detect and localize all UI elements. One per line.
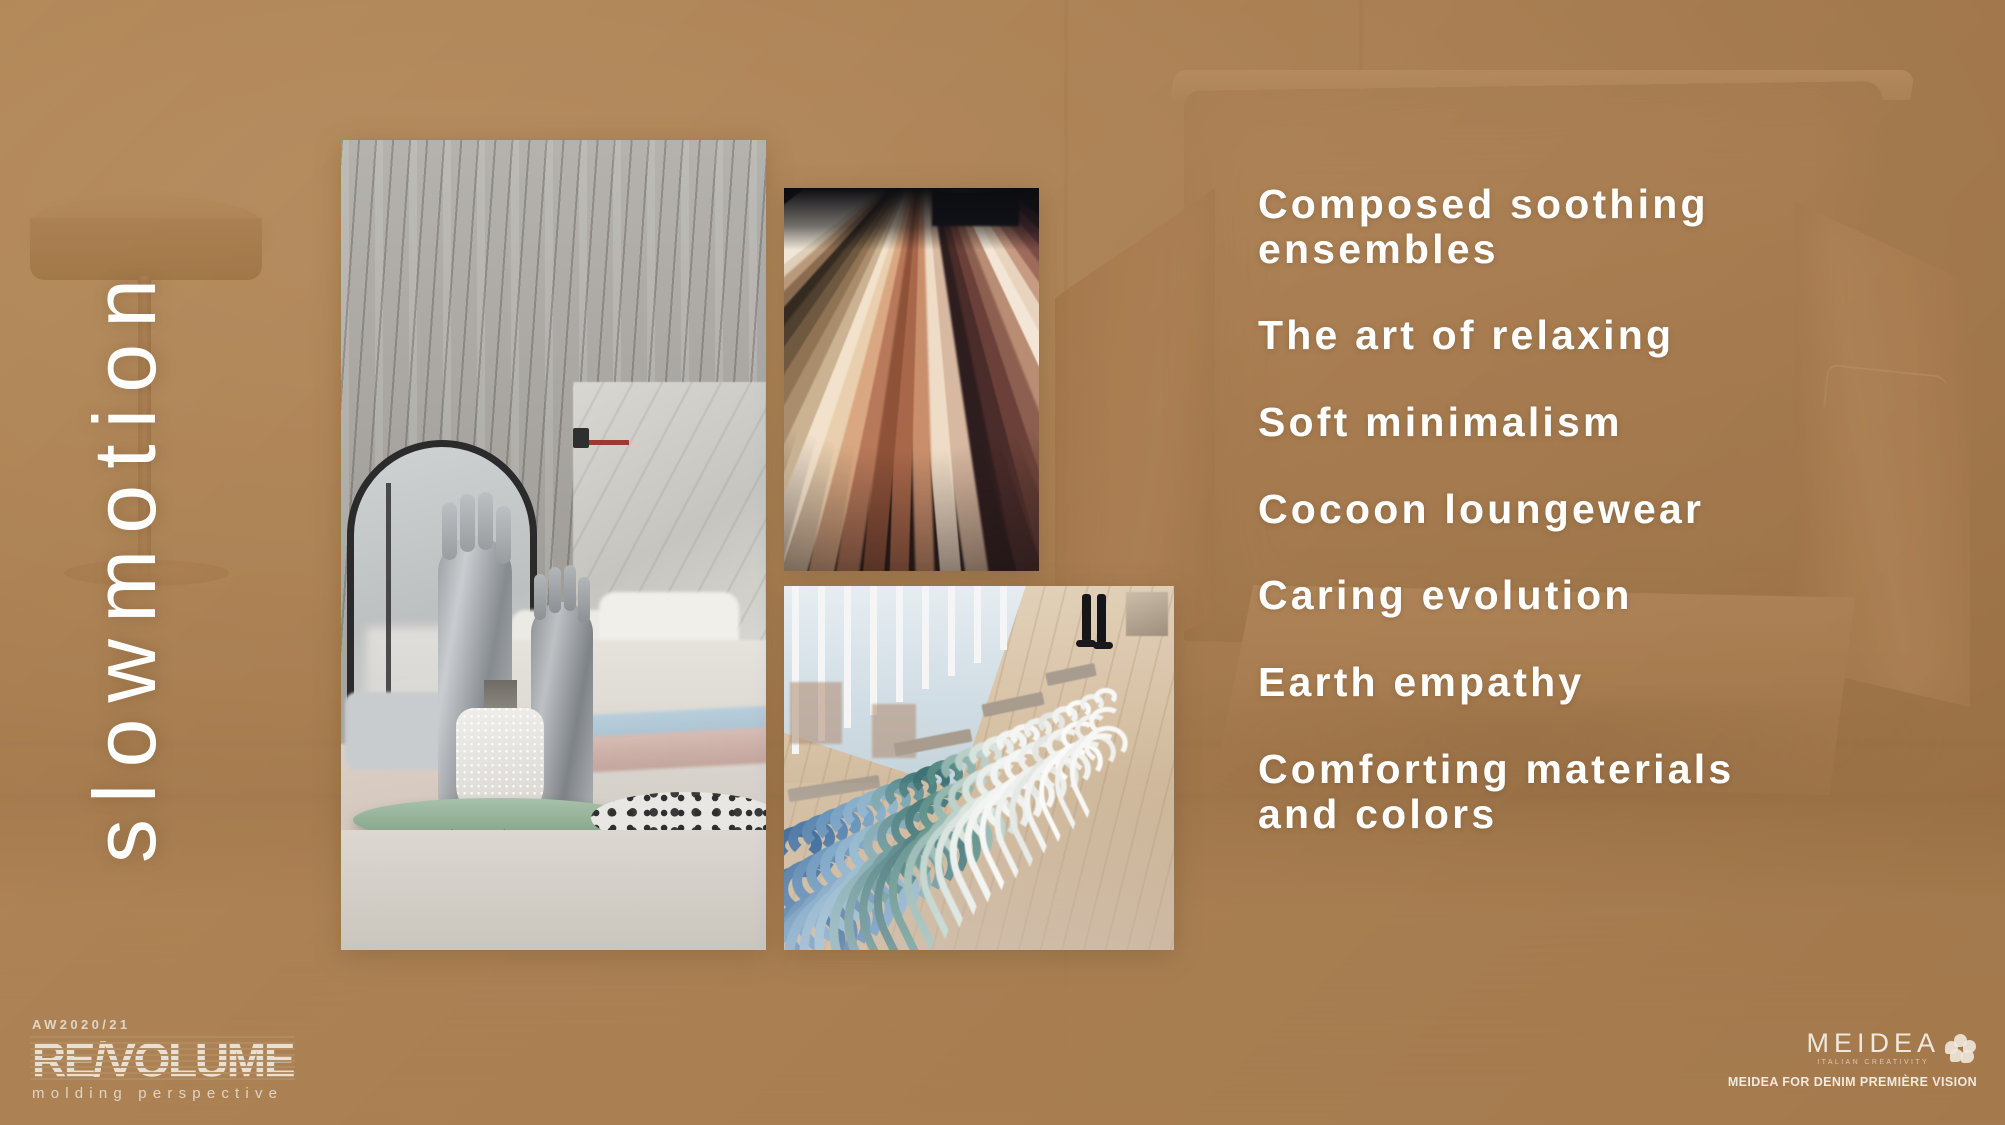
- keyword-item: Comforting materials and colors: [1258, 747, 1818, 836]
- bedroom-floor: [341, 830, 766, 950]
- meidea-wordmark-row: MEIDEA ITALIAN CREATIVITY: [1728, 1030, 1977, 1066]
- revolume-logo-block: AW2020/21 RE/VOLUME molding perspective: [32, 1017, 332, 1102]
- person-leg: [1097, 594, 1106, 644]
- person-leg: [1082, 594, 1091, 642]
- window-mullion: [922, 586, 929, 689]
- keyword-item: The art of relaxing: [1258, 313, 1958, 358]
- revolume-wordmark: RE/VOLUME: [32, 1038, 293, 1082]
- season-label: AW2020/21: [32, 1017, 332, 1032]
- window-mullion: [974, 586, 981, 663]
- photo-tube-installation: [784, 586, 1174, 950]
- window-mullion: [844, 586, 851, 728]
- vertical-title-area: slowmotion: [0, 0, 250, 1125]
- exterior-brick: [790, 682, 842, 744]
- meidea-wordmark: MEIDEA: [1806, 1030, 1940, 1057]
- keyword-item: Soft minimalism: [1258, 400, 1958, 445]
- wall-clip: [573, 428, 589, 448]
- tube-base-glow: [784, 783, 1174, 950]
- red-accent-bar: [589, 440, 629, 445]
- meidea-logo-block: MEIDEA ITALIAN CREATIVITY MEIDEA FOR DEN…: [1728, 1030, 1977, 1089]
- keyword-item: Earth empathy: [1258, 660, 1958, 705]
- person-shoe: [1093, 642, 1113, 649]
- meidea-event-line: MEIDEA FOR DENIM PREMIÈRE VISION: [1728, 1075, 1977, 1089]
- keyword-item: Cocoon loungewear: [1258, 487, 1958, 532]
- photo-concrete-bedroom: [341, 140, 766, 950]
- ceiling-shadow: [784, 188, 1039, 250]
- presentation-slide: slowmotion: [0, 0, 2005, 1125]
- window-mullion: [1000, 586, 1007, 650]
- keyword-list: Composed soothing ensemblesThe art of re…: [1258, 182, 1958, 878]
- window-mullion: [896, 586, 903, 702]
- keyword-item: Caring evolution: [1258, 573, 1958, 618]
- meidea-subtitle: ITALIAN CREATIVITY: [1806, 1059, 1940, 1066]
- window-mullion: [948, 586, 955, 676]
- keyword-item: Composed soothing ensembles: [1258, 182, 1818, 271]
- flower-icon: [1945, 1034, 1977, 1064]
- revolume-tagline: molding perspective: [32, 1085, 332, 1102]
- background-artwork: [1126, 592, 1168, 636]
- slide-title: slowmotion: [81, 262, 169, 862]
- photo-draped-fabrics: [784, 188, 1039, 571]
- window-mullion: [870, 586, 877, 715]
